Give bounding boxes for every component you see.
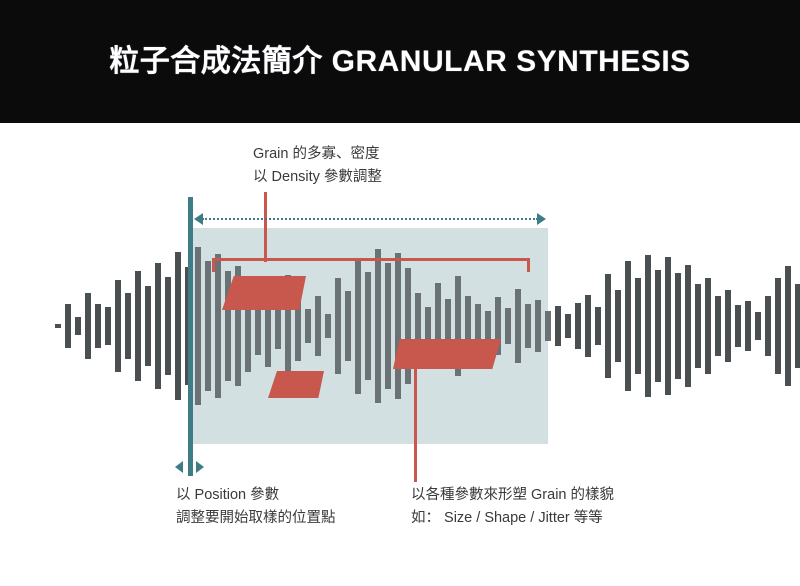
playhead-handle-right-icon[interactable] xyxy=(196,461,204,473)
waveform-bar xyxy=(85,293,91,359)
waveform-bar xyxy=(655,270,661,382)
waveform-bar xyxy=(615,290,621,362)
waveform-bar xyxy=(665,257,671,395)
waveform-bar xyxy=(105,307,111,345)
waveform-bar xyxy=(75,317,81,335)
waveform-bar xyxy=(115,280,121,372)
density-span-arrow xyxy=(194,213,546,225)
grain-envelope-large-left xyxy=(222,276,306,310)
annotation-line-2: 以 Density 參數調整 xyxy=(253,166,382,189)
title-banner: 粒子合成法簡介 GRANULAR SYNTHESIS xyxy=(0,0,800,123)
waveform-bar xyxy=(165,277,171,375)
arrow-right-icon xyxy=(537,213,546,225)
waveform-bar xyxy=(515,289,521,363)
annotation-line-2: 如： Size / Shape / Jitter 等等 xyxy=(411,507,614,530)
waveform-bar xyxy=(765,296,771,356)
waveform-bar xyxy=(135,271,141,381)
position-playhead[interactable] xyxy=(188,197,193,476)
waveform-bar xyxy=(215,254,221,398)
playhead-handle-left-icon[interactable] xyxy=(175,461,183,473)
waveform-bar xyxy=(795,284,800,368)
waveform-bar xyxy=(535,300,541,352)
shape-leader-line xyxy=(414,366,417,482)
grain-envelope-large-right xyxy=(393,339,501,369)
waveform-bar xyxy=(325,314,331,338)
waveform-bar xyxy=(525,304,531,348)
waveform-bar xyxy=(375,249,381,403)
waveform-bar xyxy=(65,304,71,348)
waveform-bar xyxy=(755,312,761,340)
grain-shape-annotation: 以各種參數來形塑 Grain 的樣貌 如： Size / Shape / Jit… xyxy=(411,484,614,531)
waveform-bar xyxy=(305,309,311,343)
density-leader-line xyxy=(264,192,267,262)
waveform-bar xyxy=(145,286,151,366)
waveform-bar xyxy=(595,307,601,345)
waveform-bar xyxy=(155,263,161,389)
waveform-bar xyxy=(545,311,551,341)
waveform-bar xyxy=(125,293,131,359)
position-parameter-annotation: 以 Position 參數 調整要開始取樣的位置點 xyxy=(176,484,336,531)
waveform-bar xyxy=(355,258,361,394)
waveform-bar xyxy=(565,314,571,338)
grain-range-bracket xyxy=(212,258,530,272)
waveform-bar xyxy=(685,265,691,387)
grain-density-annotation: Grain 的多寡、密度 以 Density 參數調整 xyxy=(253,143,382,190)
waveform-bar xyxy=(635,278,641,374)
waveform-bar xyxy=(95,304,101,348)
waveform-bar xyxy=(575,303,581,349)
bracket-horizontal-line xyxy=(212,258,530,261)
waveform-bar xyxy=(505,308,511,344)
annotation-line-2: 調整要開始取樣的位置點 xyxy=(176,507,336,530)
waveform-bar xyxy=(485,311,491,341)
waveform-bar xyxy=(385,263,391,389)
bracket-tick-left xyxy=(212,258,215,272)
waveform-bar xyxy=(365,272,371,380)
waveform-bar xyxy=(175,252,181,400)
waveform-bar xyxy=(785,266,791,386)
waveform-bar xyxy=(605,274,611,378)
waveform-bar xyxy=(555,306,561,346)
waveform-bar xyxy=(315,296,321,356)
annotation-line-1: Grain 的多寡、密度 xyxy=(253,143,382,166)
grain-envelope-small xyxy=(268,371,324,398)
waveform-bar xyxy=(705,278,711,374)
waveform-bar xyxy=(695,284,701,368)
waveform-bar xyxy=(335,278,341,374)
waveform-bar xyxy=(395,253,401,399)
waveform-bar xyxy=(625,261,631,391)
waveform-bar xyxy=(745,301,751,351)
waveform-bar xyxy=(675,273,681,379)
span-dotted-line xyxy=(202,218,538,220)
waveform-bar xyxy=(715,296,721,356)
annotation-line-1: 以各種參數來形塑 Grain 的樣貌 xyxy=(411,484,614,507)
bracket-tick-right xyxy=(527,258,530,272)
waveform-bar xyxy=(775,278,781,374)
waveform-bar xyxy=(55,324,61,328)
waveform-bar xyxy=(195,247,201,405)
waveform-bar xyxy=(735,305,741,347)
waveform-bar xyxy=(585,295,591,357)
waveform-bar xyxy=(645,255,651,397)
waveform-bar xyxy=(205,261,211,391)
waveform-bar xyxy=(345,291,351,361)
annotation-line-1: 以 Position 參數 xyxy=(176,484,336,507)
waveform-bar xyxy=(725,290,731,362)
page-title: 粒子合成法簡介 GRANULAR SYNTHESIS xyxy=(109,47,690,77)
